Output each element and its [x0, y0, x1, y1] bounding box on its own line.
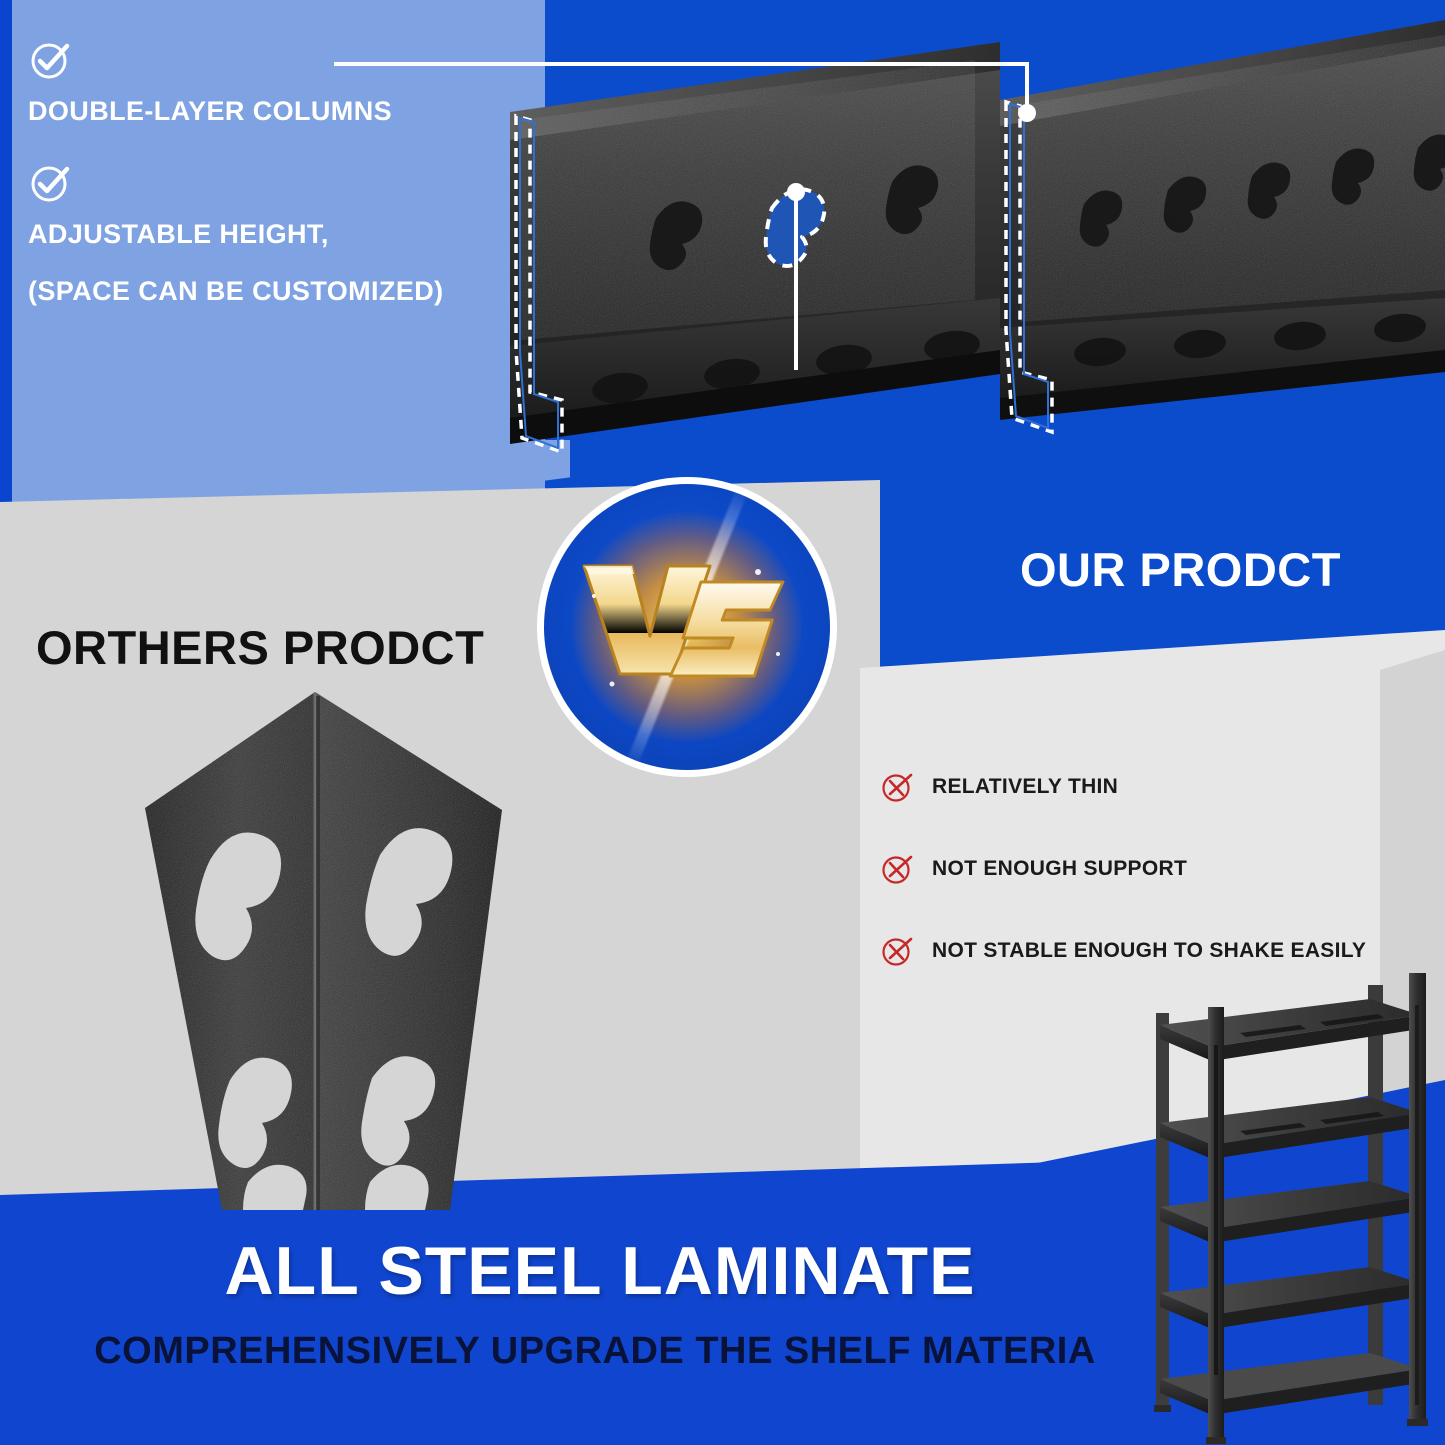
feature-item-adjustable-height: ADJUSTABLE HEIGHT, (SPACE CAN BE CUSTOMI…: [28, 161, 528, 307]
background-left-blue-stripe: [0, 0, 12, 520]
check-circle-icon: [28, 161, 72, 205]
vs-badge: [537, 477, 837, 777]
banner-subtitle: COMPREHENSIVELY UPGRADE THE SHELF MATERI…: [0, 1330, 1190, 1373]
feature-item-double-layer-columns: DOUBLE-LAYER COLUMNS: [28, 38, 528, 127]
check-circle-icon: [28, 38, 72, 82]
banner-title: ALL STEEL LAMINATE: [0, 1232, 1200, 1310]
our-product-heading: OUR PRODCT: [1020, 542, 1341, 597]
steel-beam-columns-photo: [500, 0, 1445, 500]
circle-x-icon: [880, 934, 914, 968]
con-item-not-enough-support: NOT ENOUGH SUPPORT: [880, 852, 1420, 886]
con-item-relatively-thin: RELATIVELY THIN: [880, 770, 1420, 804]
feature-label: ADJUSTABLE HEIGHT,: [28, 219, 528, 250]
circle-x-icon: [880, 770, 914, 804]
feature-list: DOUBLE-LAYER COLUMNS ADJUSTABLE HEIGHT, …: [28, 38, 528, 317]
con-label: NOT ENOUGH SUPPORT: [932, 857, 1187, 881]
feature-label: DOUBLE-LAYER COLUMNS: [28, 96, 528, 127]
circle-x-icon: [880, 852, 914, 886]
feature-sublabel: (SPACE CAN BE CUSTOMIZED): [28, 276, 528, 307]
con-label: RELATIVELY THIN: [932, 775, 1118, 799]
angle-post-corner-photo: [50, 690, 590, 1210]
vs-label: [572, 550, 802, 705]
product-infographic-poster: DOUBLE-LAYER COLUMNS ADJUSTABLE HEIGHT, …: [0, 0, 1445, 1445]
others-product-heading: ORTHERS PRODCT: [36, 620, 484, 675]
